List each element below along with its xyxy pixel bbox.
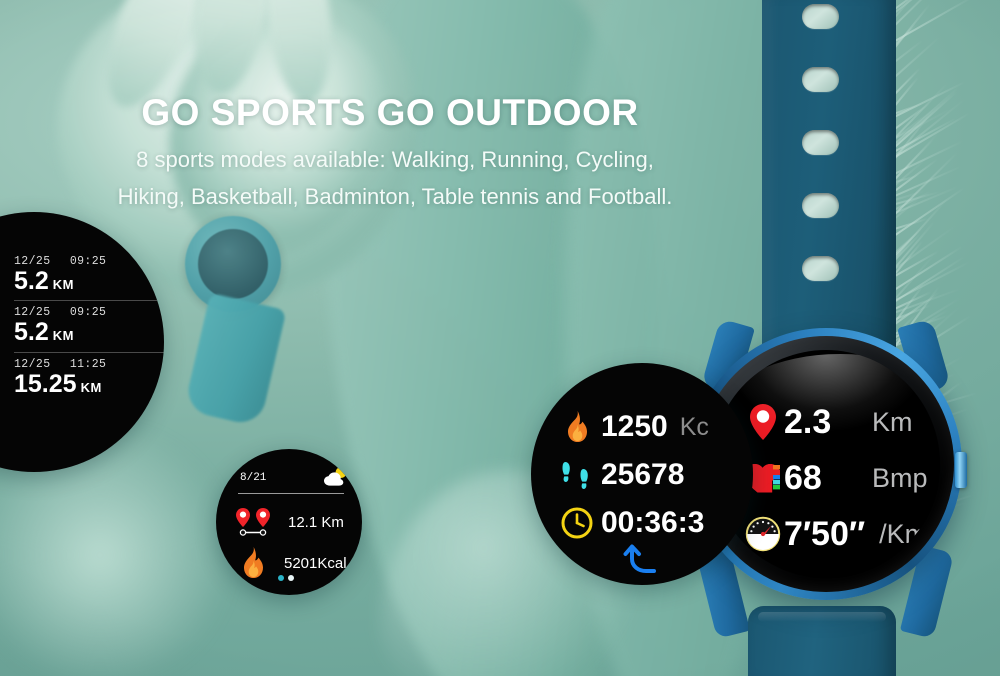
- route-pins-icon: [234, 507, 278, 537]
- activity-list: 12/25 09:25 5.2KM 12/25 09:25: [14, 250, 164, 403]
- activity-time: 09:25: [70, 306, 107, 319]
- summary-calories-value: 5201Kcal: [284, 555, 347, 572]
- calories-unit: Kc: [680, 413, 709, 442]
- page-title: GO SPORTS GO OUTDOOR: [0, 92, 780, 134]
- page-dot-inactive[interactable]: [288, 575, 294, 581]
- summary-distance-value: 12.1 Km: [288, 514, 344, 531]
- pace-unit: /Km: [879, 519, 927, 550]
- activity-distance-value: 5.2: [14, 318, 49, 346]
- main-stats-list: 2.3 Km: [742, 394, 940, 562]
- summary-row-distance[interactable]: 12.1 Km: [234, 507, 352, 537]
- workout-row-calories[interactable]: 1250 Kc: [557, 403, 716, 451]
- heart-rate-unit: Bmp: [872, 463, 928, 494]
- stat-row-heart-rate[interactable]: 68 Bmp: [742, 450, 940, 506]
- band-hole: [802, 67, 839, 92]
- duration-value: 00:36:3: [601, 506, 704, 540]
- activity-row-walking[interactable]: 12/25 09:25 5.2KM: [14, 250, 164, 300]
- flame-icon: [240, 547, 266, 579]
- activity-distance-unit: KM: [53, 328, 74, 343]
- activity-row-cycling[interactable]: 12/25 11:25 15.25KM: [14, 352, 164, 403]
- watch-crown-button[interactable]: [955, 452, 967, 488]
- activity-distance: 5.2KM: [14, 319, 164, 345]
- band-hole: [802, 256, 839, 281]
- activity-distance-unit: KM: [81, 380, 102, 395]
- band-hole: [802, 130, 839, 155]
- activity-distance-unit: KM: [53, 277, 74, 292]
- workout-stats-list: 1250 Kc 25678: [557, 403, 716, 547]
- product-banner: GO SPORTS GO OUTDOOR 8 sports modes avai…: [0, 0, 1000, 676]
- subtitle-line-2: Hiking, Basketball, Badminton, Table ten…: [0, 182, 790, 212]
- flame-icon: [557, 411, 597, 443]
- location-pin-icon: [742, 403, 784, 441]
- activity-distance-value: 5.2: [14, 267, 49, 295]
- pace-value: 7′50″: [784, 515, 865, 554]
- activity-distance: 15.25KM: [14, 371, 164, 397]
- watch-band-bottom: [748, 606, 896, 676]
- speedometer-icon: [742, 516, 784, 552]
- daily-summary-face[interactable]: 8/21: [216, 449, 362, 595]
- activity-distance: 5.2KM: [14, 268, 164, 294]
- page-dot-active[interactable]: [278, 575, 284, 581]
- clock-icon: [557, 507, 597, 539]
- workout-stats-face[interactable]: 1250 Kc 25678: [531, 363, 753, 585]
- calories-value: 1250: [601, 410, 668, 444]
- distance-value: 2.3: [784, 403, 858, 442]
- stat-row-distance[interactable]: 2.3 Km: [742, 394, 940, 450]
- band-hole: [802, 4, 839, 29]
- heart-rate-value: 68: [784, 459, 858, 498]
- band-hole: [802, 193, 839, 218]
- summary-header: 8/21: [238, 469, 344, 494]
- subtitle-line-1: 8 sports modes available: Walking, Runni…: [0, 145, 790, 175]
- steps-value: 25678: [601, 458, 684, 492]
- distance-unit: Km: [872, 407, 913, 438]
- workout-row-duration[interactable]: 00:36:3: [557, 499, 716, 547]
- watch-band-top: [762, 0, 896, 368]
- footsteps-icon: [557, 459, 597, 491]
- summary-date: 8/21: [240, 472, 266, 484]
- back-arrow-icon[interactable]: [627, 545, 661, 575]
- activity-row-running[interactable]: 12/25 09:25 5.2KM: [14, 300, 164, 351]
- page-indicator[interactable]: [278, 575, 294, 581]
- activity-distance-value: 15.25: [14, 370, 77, 398]
- stat-row-pace[interactable]: 7′50″ /Km: [742, 506, 940, 562]
- sun-behind-cloud-icon: [322, 465, 350, 487]
- activity-time: 09:25: [70, 255, 107, 268]
- workout-row-steps[interactable]: 25678: [557, 451, 716, 499]
